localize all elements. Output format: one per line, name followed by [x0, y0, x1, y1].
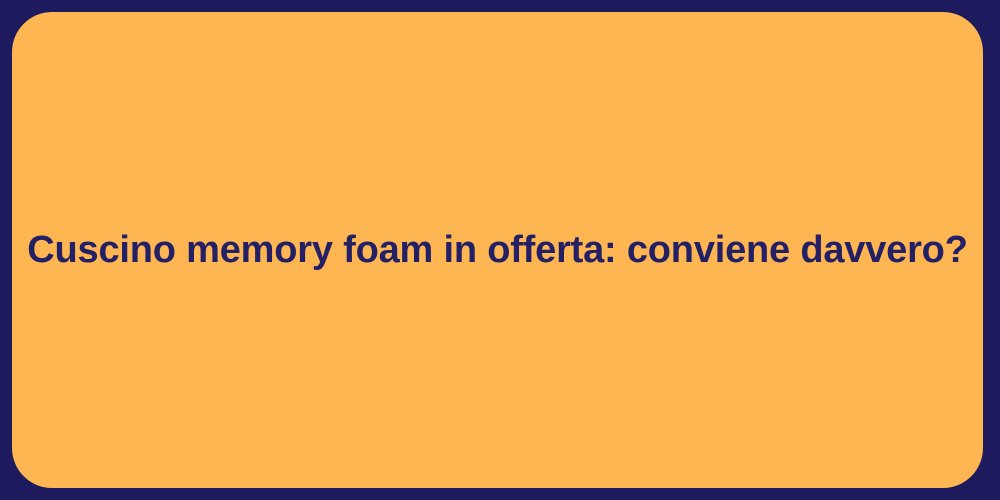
banner-title: Cuscino memory foam in offerta: conviene…	[12, 229, 983, 273]
banner-outer-frame: Cuscino memory foam in offerta: conviene…	[0, 0, 1000, 500]
banner-card: Cuscino memory foam in offerta: conviene…	[12, 12, 983, 488]
